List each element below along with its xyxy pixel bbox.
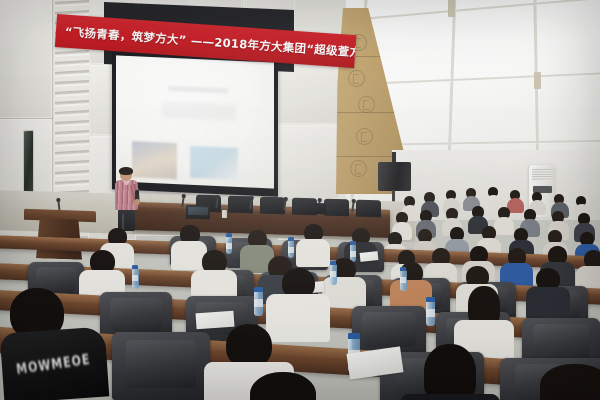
stage-chair [260,197,285,215]
eyeglasses-icon [120,173,132,176]
presenter-hand [134,199,140,205]
paper-sheet [195,311,234,330]
floor-speaker-icon [378,162,411,191]
stage-chair [324,199,349,217]
water-bottle [426,300,435,326]
auditorium-photo: “飞扬青春，筑梦方大” ——2018年方大集团“超级萱方生”特训营 [0,0,600,400]
foreground-tshirt: MOWMEOE [0,326,109,400]
water-bottle [288,240,294,258]
water-bottle [254,290,263,316]
presenter [114,168,140,230]
laptop-icon [186,205,210,220]
desk-monitor-icon [306,203,326,215]
slide-faint-heading [168,86,228,94]
wall-speaker-icon [23,130,34,197]
auditorium-seat [112,332,210,400]
tshirt-graphic-text: MOWMEOE [15,351,91,377]
laptop-screen [188,207,208,215]
ac-grille-icon [532,169,553,181]
stage-chair [356,200,381,218]
slide-faint-body [162,102,236,121]
slide-thumbnail-right [190,146,238,180]
water-bottle [226,236,232,254]
water-bottle [132,268,139,289]
paper-cup-icon [222,210,227,218]
paper-sheet [360,251,379,262]
water-bottle [330,264,337,285]
water-bottle [400,270,407,291]
